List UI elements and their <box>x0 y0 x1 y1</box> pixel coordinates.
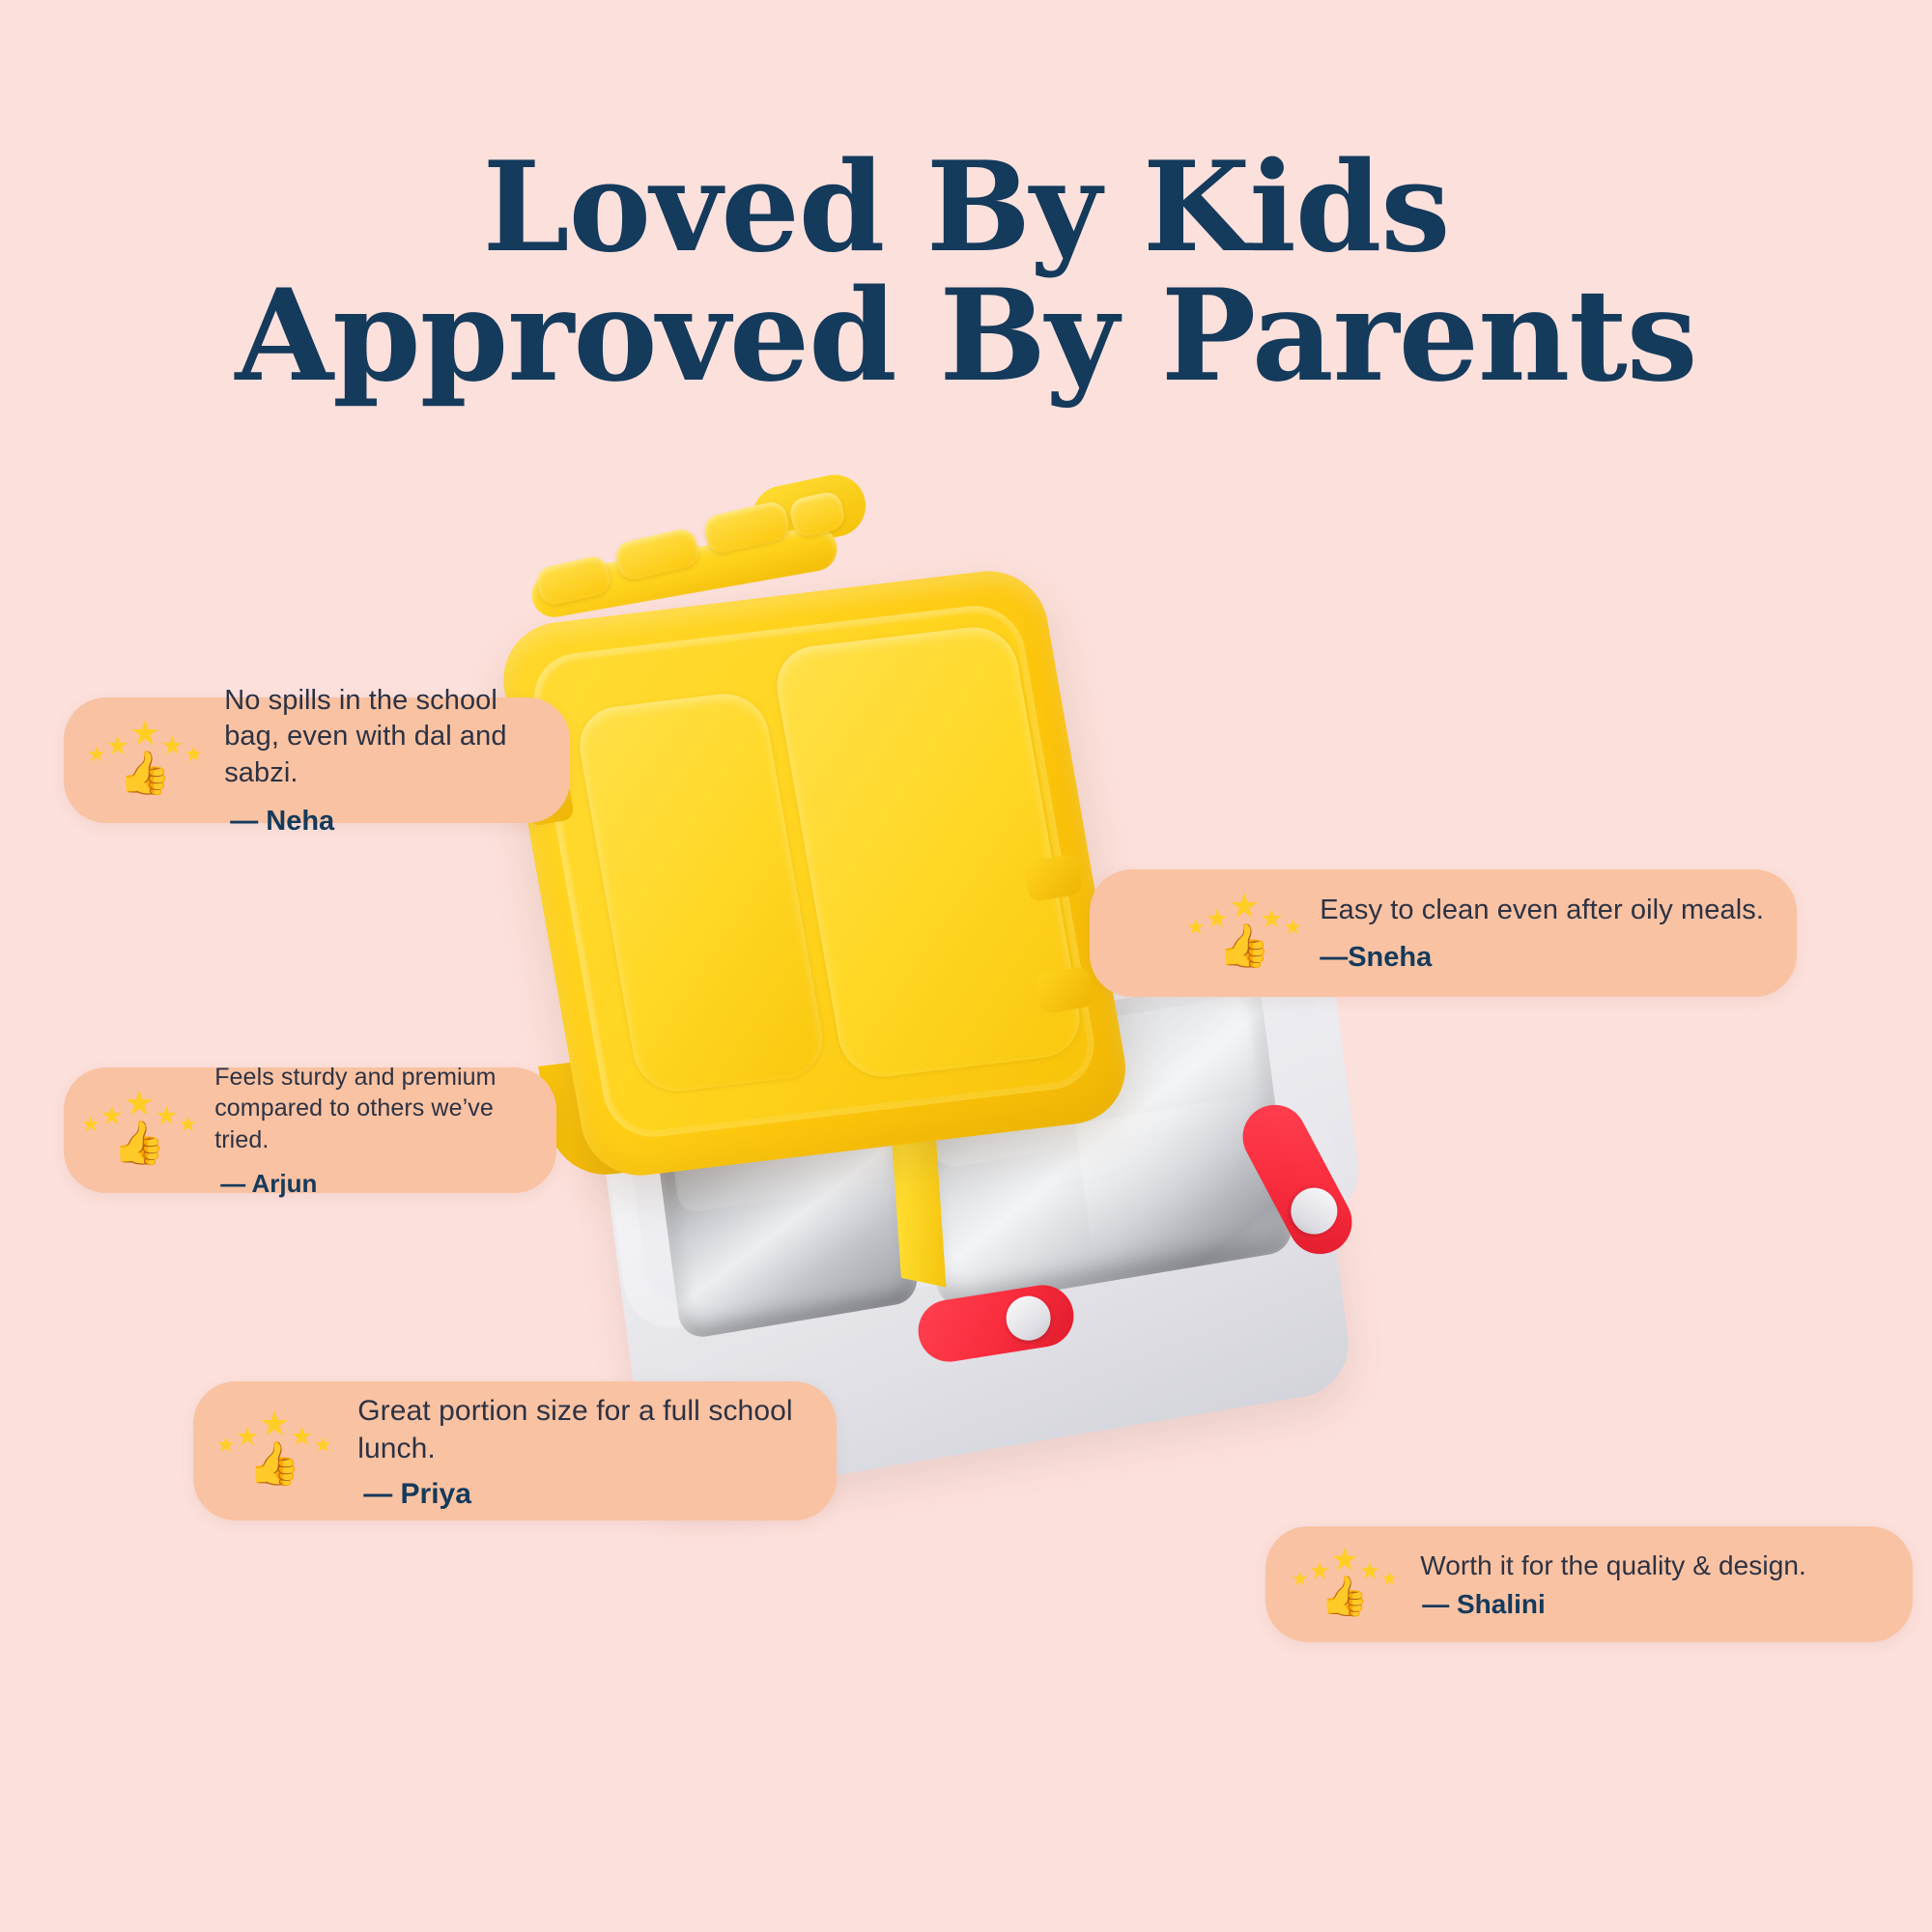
star-icon: ★ <box>106 733 129 759</box>
star-icon: ★ <box>87 744 106 765</box>
star-icon: ★ <box>259 1406 290 1441</box>
promo-graphic: Loved By Kids Approved By Parents <box>0 0 1932 1932</box>
review-card-sneha: ★ ★ ★ ★ ★ 👍 Easy to clean even after oil… <box>1090 869 1797 997</box>
star-icon: ★ <box>178 1114 197 1135</box>
review-author: — Neha <box>230 806 545 838</box>
review-quote: No spills in the school bag, even with d… <box>224 683 545 790</box>
latch-knob-icon <box>1003 1293 1054 1344</box>
review-quote: Feels sturdy and premium compared to oth… <box>214 1062 537 1156</box>
review-card-shalini: ★ ★ ★ ★ ★ 👍 Worth it for the quality & d… <box>1265 1526 1913 1642</box>
star-icon: ★ <box>1330 1543 1359 1575</box>
review-card-priya: ★ ★ ★ ★ ★ 👍 Great portion size for a ful… <box>193 1381 837 1520</box>
review-author: — Shalini <box>1422 1589 1893 1620</box>
star-icon: ★ <box>1260 906 1283 932</box>
star-rating-icon: ★ ★ ★ ★ ★ 👍 <box>216 1417 332 1486</box>
star-rating-icon: ★ ★ ★ ★ ★ 👍 <box>87 726 203 795</box>
review-card-neha: ★ ★ ★ ★ ★ 👍 No spills in the school bag,… <box>64 697 570 823</box>
review-card-arjun: ★ ★ ★ ★ ★ 👍 Feels sturdy and premium com… <box>64 1067 556 1193</box>
star-icon: ★ <box>155 1103 178 1129</box>
star-icon: ★ <box>236 1424 259 1450</box>
star-icon: ★ <box>1229 889 1260 923</box>
star-icon: ★ <box>100 1103 124 1129</box>
star-icon: ★ <box>1359 1559 1380 1583</box>
star-icon: ★ <box>1283 917 1302 938</box>
review-text-block: No spills in the school bag, even with d… <box>224 683 545 837</box>
star-icon: ★ <box>1380 1569 1398 1588</box>
star-icon: ★ <box>124 1086 155 1121</box>
star-rating-icon: ★ ★ ★ ★ ★ 👍 <box>1292 1552 1399 1615</box>
headline-line-1: Loved By Kids <box>0 145 1932 271</box>
star-icon: ★ <box>184 744 203 765</box>
star-icon: ★ <box>81 1114 100 1135</box>
review-author: — Priya <box>363 1478 813 1511</box>
review-quote: Easy to clean even after oily meals. <box>1320 893 1764 928</box>
star-rating-icon: ★ ★ ★ ★ ★ 👍 <box>81 1096 197 1165</box>
review-author: — Arjun <box>220 1169 537 1199</box>
star-icon: ★ <box>129 716 160 751</box>
star-icon: ★ <box>1292 1569 1309 1588</box>
star-icon: ★ <box>313 1435 332 1456</box>
review-author: —Sneha <box>1320 942 1764 974</box>
page-title: Loved By Kids Approved By Parents <box>0 145 1932 400</box>
star-icon: ★ <box>160 733 184 759</box>
review-text-block: Great portion size for a full school lun… <box>357 1392 813 1511</box>
star-icon: ★ <box>1206 906 1229 932</box>
review-text-block: Feels sturdy and premium compared to oth… <box>214 1062 537 1200</box>
star-icon: ★ <box>1309 1559 1330 1583</box>
headline-line-2: Approved By Parents <box>0 271 1932 401</box>
star-icon: ★ <box>290 1424 313 1450</box>
review-quote: Great portion size for a full school lun… <box>357 1392 813 1467</box>
review-quote: Worth it for the quality & design. <box>1420 1548 1893 1582</box>
star-rating-icon: ★ ★ ★ ★ ★ 👍 <box>1186 899 1302 968</box>
lid-face <box>526 601 1101 1143</box>
star-icon: ★ <box>216 1435 236 1456</box>
review-text-block: Easy to clean even after oily meals. —Sn… <box>1320 893 1764 973</box>
star-icon: ★ <box>1186 917 1206 938</box>
review-text-block: Worth it for the quality & design. — Sha… <box>1420 1548 1893 1620</box>
latch-knob-icon <box>1283 1179 1346 1242</box>
